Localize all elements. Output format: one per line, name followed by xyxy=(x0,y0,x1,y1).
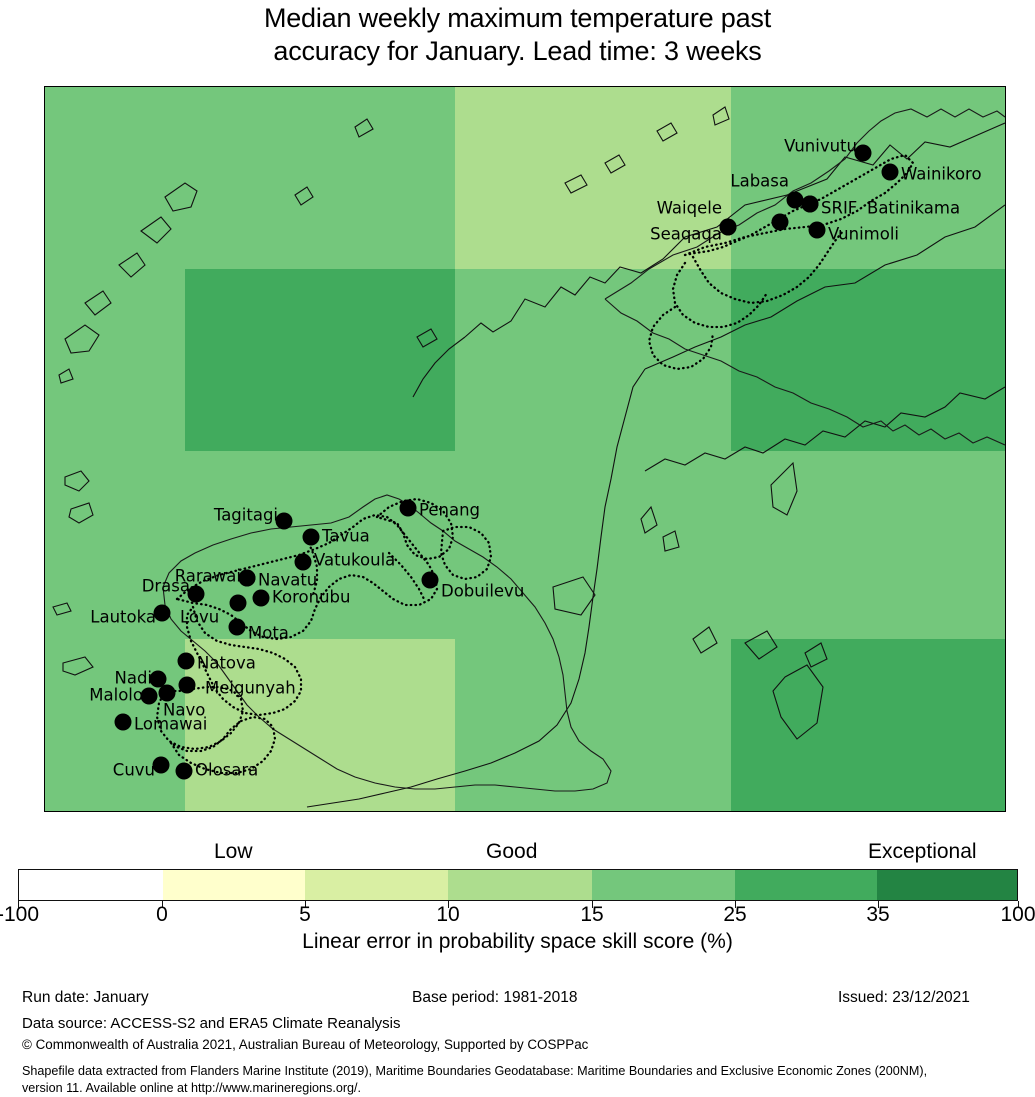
footer-copyright: © Commonwealth of Australia 2021, Austra… xyxy=(22,1036,588,1053)
colorbar-tick-label: -100 xyxy=(0,903,39,927)
colorbar-segment xyxy=(305,870,448,900)
viti-levu-coastline xyxy=(163,495,611,791)
station-label: Cuvu xyxy=(113,761,155,780)
colorbar-segment xyxy=(877,870,1017,900)
footer-run-date: Run date: January xyxy=(22,988,149,1008)
colorbar-segment xyxy=(19,870,163,900)
title-line-2: accuracy for January. Lead time: 3 weeks xyxy=(0,35,1035,68)
station-dot[interactable] xyxy=(188,586,205,603)
station-label: Dobuilevu xyxy=(441,582,524,601)
footer-base-period: Base period: 1981-2018 xyxy=(412,988,577,1008)
station-dot[interactable] xyxy=(802,196,819,213)
map-overlay: VunivutuWainikoroLabasaSRIFBatinikamaWai… xyxy=(45,87,1005,811)
station-dot[interactable] xyxy=(229,619,246,636)
colorbar-tick-labels: -1000510152535100 xyxy=(0,903,1035,929)
station-label: Koronubu xyxy=(272,588,350,607)
station-label: Waiqele xyxy=(657,199,722,218)
station-dot[interactable] xyxy=(179,677,196,694)
footer-meta-row: Run date: January Base period: 1981-2018… xyxy=(0,988,1035,1010)
station-dot[interactable] xyxy=(809,222,826,239)
station-dot[interactable] xyxy=(176,763,193,780)
colorbar-tick-label: 5 xyxy=(299,903,311,927)
station-label: Tavua xyxy=(321,527,370,546)
vanua-levu-coastline xyxy=(605,109,1005,445)
colorbar-category-labels: Low Good Exceptional xyxy=(0,840,1035,866)
station-markers: VunivutuWainikoroLabasaSRIFBatinikamaWai… xyxy=(89,137,981,780)
station-dot[interactable] xyxy=(720,219,737,236)
colorbar-axis-label: Linear error in probability space skill … xyxy=(0,930,1035,954)
footer-issued: Issued: 23/12/2021 xyxy=(838,988,970,1008)
station-label: Natova xyxy=(197,654,256,673)
footer-shapefile-line-2: version 11. Available online at http://w… xyxy=(22,1080,361,1097)
station-label: Penang xyxy=(419,501,480,520)
colorbar-tick-label: 15 xyxy=(580,903,603,927)
station-label: Seaqaqa xyxy=(650,225,722,244)
station-label: Vunimoli xyxy=(828,225,899,244)
station-dot[interactable] xyxy=(230,595,247,612)
footer-data-source: Data source: ACCESS-S2 and ERA5 Climate … xyxy=(22,1014,401,1034)
station-dot[interactable] xyxy=(772,214,789,231)
station-label: Olosara xyxy=(195,761,258,780)
colorbar-segment xyxy=(163,870,306,900)
station-label: Meigunyah xyxy=(205,679,296,698)
colorbar[interactable] xyxy=(18,869,1018,901)
station-label: Malolo xyxy=(89,686,143,705)
station-dot[interactable] xyxy=(150,671,167,688)
station-dot[interactable] xyxy=(141,688,158,705)
colorbar-tick-label: 100 xyxy=(1000,903,1035,927)
station-label: Lautoka xyxy=(90,608,156,627)
colorbar-tick-label: 10 xyxy=(436,903,459,927)
station-label: Wainikoro xyxy=(901,165,982,184)
station-label: Lovu xyxy=(180,608,219,627)
footer: Run date: January Base period: 1981-2018… xyxy=(0,988,1035,1095)
colorbar-tick-label: 25 xyxy=(723,903,746,927)
station-dot[interactable] xyxy=(154,605,171,622)
colorbar-segment xyxy=(592,870,735,900)
station-dot[interactable] xyxy=(855,145,872,162)
station-dot[interactable] xyxy=(153,757,170,774)
colorbar-tick-label: 35 xyxy=(866,903,889,927)
station-dot[interactable] xyxy=(178,653,195,670)
colorbar-tick-label: 0 xyxy=(156,903,168,927)
colorbar-label-exceptional: Exceptional xyxy=(868,840,977,864)
station-dot[interactable] xyxy=(276,513,293,530)
station-dot[interactable] xyxy=(422,572,439,589)
station-dot[interactable] xyxy=(239,570,256,587)
page-title: Median weekly maximum temperature past a… xyxy=(0,2,1035,68)
station-dot[interactable] xyxy=(159,685,176,702)
station-label: Vunivutu xyxy=(784,137,857,156)
station-dot[interactable] xyxy=(787,192,804,209)
colorbar-segment xyxy=(735,870,878,900)
colorbar-label-good: Good xyxy=(486,840,537,864)
station-label: Lomawai xyxy=(134,715,207,734)
station-label: Vatukoula xyxy=(314,551,395,570)
station-label: Tagitagi xyxy=(213,506,278,525)
station-dot[interactable] xyxy=(253,590,270,607)
station-dot[interactable] xyxy=(882,164,899,181)
colorbar-segment xyxy=(448,870,592,900)
map-canvas[interactable]: VunivutuWainikoroLabasaSRIFBatinikamaWai… xyxy=(44,86,1006,812)
station-label: Batinikama xyxy=(867,199,960,218)
colorbar-label-low: Low xyxy=(214,840,253,864)
title-line-1: Median weekly maximum temperature past xyxy=(0,2,1035,35)
station-dot[interactable] xyxy=(295,554,312,571)
station-label: Labasa xyxy=(730,172,789,191)
station-label: Mota xyxy=(248,624,289,643)
station-label: Drasa xyxy=(142,577,190,596)
station-label: SRIF xyxy=(821,199,857,218)
station-dot[interactable] xyxy=(303,529,320,546)
station-dot[interactable] xyxy=(115,714,132,731)
footer-shapefile-line-1: Shapefile data extracted from Flanders M… xyxy=(22,1063,927,1080)
station-dot[interactable] xyxy=(400,500,417,517)
